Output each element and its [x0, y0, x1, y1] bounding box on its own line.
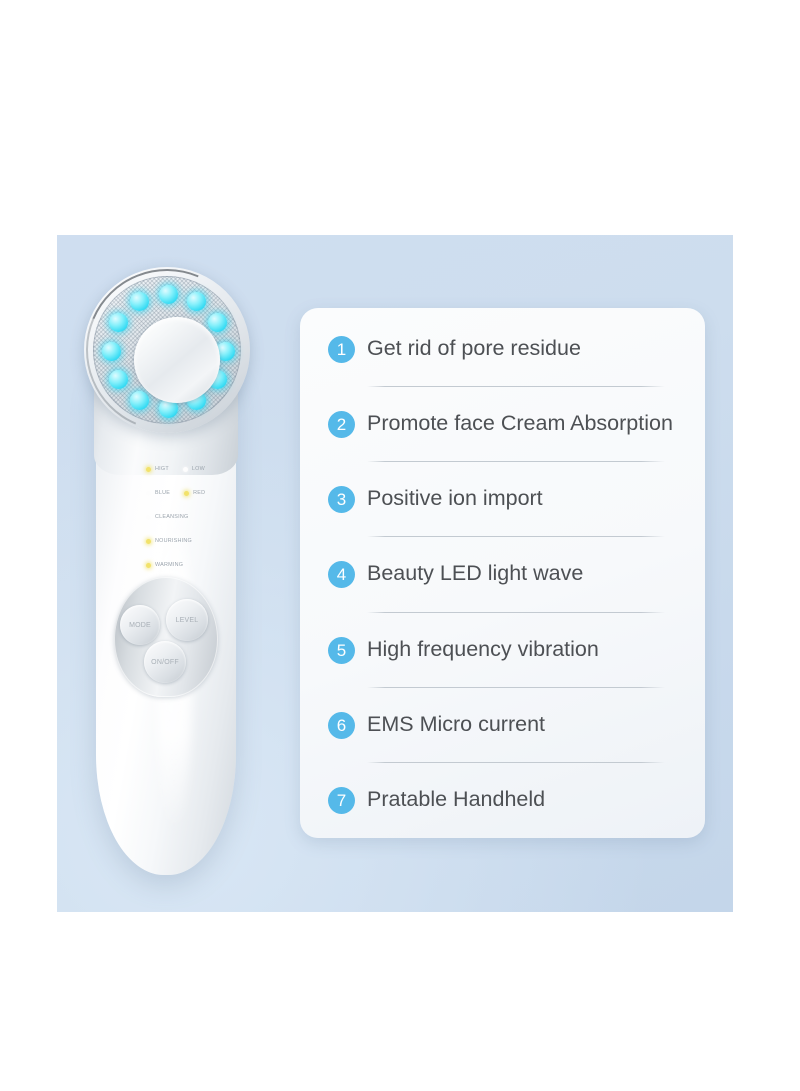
feature-row: 2Promote face Cream Absorption: [328, 409, 679, 438]
indicator-lamp: WARMING: [146, 562, 183, 568]
indicator-lamp: LOW: [183, 466, 205, 472]
control-pad: MODE LEVEL ON/OFF: [114, 577, 218, 697]
indicator-lamp-row: WARMING: [146, 553, 266, 577]
feature-label: Get rid of pore residue: [367, 334, 581, 361]
feature-label: EMS Micro current: [367, 710, 545, 737]
indicator-lamp-row: NOURISHING: [146, 529, 266, 553]
mode-button-label: MODE: [129, 622, 151, 629]
feature-row: 7Pratable Handheld: [328, 785, 679, 814]
feature-row: 3Positive ion import: [328, 484, 679, 513]
indicator-lamp-label: HIGT: [155, 466, 169, 472]
feature-number-badge: 3: [328, 486, 355, 513]
feature-divider: [367, 762, 665, 763]
indicator-lamp: BLUE: [146, 490, 170, 496]
feature-divider: [367, 536, 665, 537]
indicator-lamp-row: BLUERED: [146, 481, 266, 505]
indicator-lamp-dot-icon: [146, 563, 151, 568]
beauty-device-illustration: HIGTLOWBLUEREDCLEANSINGNOURISHINGWARMING…: [58, 245, 298, 885]
indicator-lamp-dot-icon: [146, 491, 151, 496]
indicator-lamp-label: CLEANSING: [155, 514, 188, 520]
feature-row: 5High frequency vibration: [328, 635, 679, 664]
indicator-lamp-label: NOURISHING: [155, 538, 192, 544]
feature-row: 6EMS Micro current: [328, 710, 679, 739]
indicator-lamp: CLEANSING: [146, 514, 188, 520]
feature-label: Promote face Cream Absorption: [367, 409, 673, 436]
indicator-lamp-label: RED: [193, 490, 205, 496]
feature-number-badge: 5: [328, 637, 355, 664]
feature-row: 4Beauty LED light wave: [328, 559, 679, 588]
feature-number-badge: 1: [328, 336, 355, 363]
indicator-lamp-dot-icon: [184, 491, 189, 496]
feature-divider: [367, 612, 665, 613]
feature-label: Positive ion import: [367, 484, 543, 511]
feature-divider: [367, 386, 665, 387]
indicator-lamp: NOURISHING: [146, 538, 192, 544]
indicator-lamp-label: BLUE: [155, 490, 170, 496]
feature-label: Pratable Handheld: [367, 785, 545, 812]
feature-divider: [367, 461, 665, 462]
feature-list: 1Get rid of pore residue2Promote face Cr…: [328, 334, 679, 814]
feature-row: 1Get rid of pore residue: [328, 334, 679, 363]
indicator-lamp: HIGT: [146, 466, 169, 472]
feature-number-badge: 2: [328, 411, 355, 438]
power-button-label: ON/OFF: [151, 659, 179, 666]
power-button[interactable]: ON/OFF: [144, 641, 186, 683]
indicator-lamp-label: LOW: [192, 466, 205, 472]
indicator-lamp-dot-icon: [146, 467, 151, 472]
indicator-lamp-list: HIGTLOWBLUEREDCLEANSINGNOURISHINGWARMING: [146, 457, 266, 577]
indicator-lamp-dot-icon: [146, 515, 151, 520]
mode-button[interactable]: MODE: [120, 605, 160, 645]
feature-label: High frequency vibration: [367, 635, 599, 662]
device-head: [84, 267, 250, 433]
feature-card: 1Get rid of pore residue2Promote face Cr…: [300, 308, 705, 838]
indicator-lamp-dot-icon: [183, 467, 188, 472]
feature-label: Beauty LED light wave: [367, 559, 583, 586]
indicator-lamp-row: HIGTLOW: [146, 457, 266, 481]
feature-number-badge: 4: [328, 561, 355, 588]
feature-number-badge: 7: [328, 787, 355, 814]
indicator-lamp: RED: [184, 490, 205, 496]
indicator-lamp-dot-icon: [146, 539, 151, 544]
feature-number-badge: 6: [328, 712, 355, 739]
level-button[interactable]: LEVEL: [166, 599, 208, 641]
level-button-label: LEVEL: [176, 617, 199, 624]
feature-divider: [367, 687, 665, 688]
indicator-lamp-label: WARMING: [155, 562, 183, 568]
indicator-lamp-row: CLEANSING: [146, 505, 266, 529]
